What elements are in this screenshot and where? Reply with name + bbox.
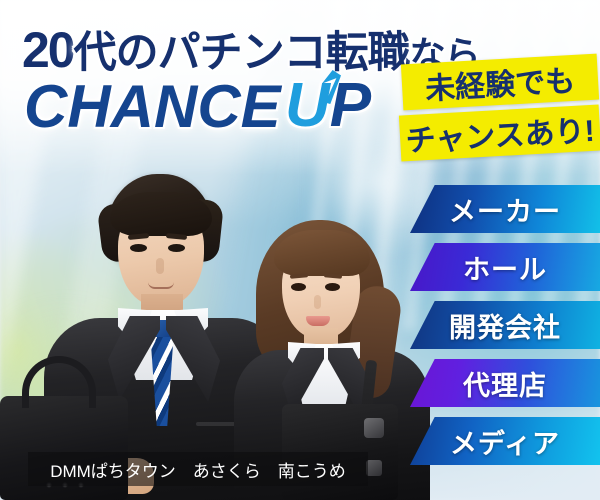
- category-button-media[interactable]: メディア: [410, 417, 600, 465]
- male-eye-right: [168, 244, 185, 252]
- business-people-photo: [0, 160, 430, 500]
- banner-ad[interactable]: 20代のパチンコ転職なら CHANCE UP 未経験でも チャンスあり! メーカ…: [0, 0, 600, 500]
- logo-letter-u: U: [285, 71, 330, 140]
- female-eye-left: [291, 283, 306, 291]
- male-hair-fringe: [110, 192, 212, 236]
- category-button-developer[interactable]: 開発会社: [410, 301, 600, 349]
- female-mouth: [306, 316, 330, 326]
- briefcase-right-clasp-lower: [366, 460, 382, 476]
- briefcase-right-clasp: [364, 418, 384, 438]
- female-nose: [314, 295, 321, 309]
- male-nose: [156, 258, 164, 274]
- male-eye-left: [130, 244, 147, 252]
- category-button-agency[interactable]: 代理店: [410, 359, 600, 407]
- female-eye-right: [325, 283, 340, 291]
- logo-chance-word: CHANCE: [24, 72, 281, 141]
- credit-bar: DMMぱちタウン あさくら 南こうめ: [28, 452, 368, 486]
- male-mouth: [148, 282, 174, 289]
- female-hair-fringe: [274, 230, 370, 276]
- headline-number: 20: [22, 22, 74, 78]
- category-button-hall[interactable]: ホール: [410, 243, 600, 291]
- category-button-maker[interactable]: メーカー: [410, 185, 600, 233]
